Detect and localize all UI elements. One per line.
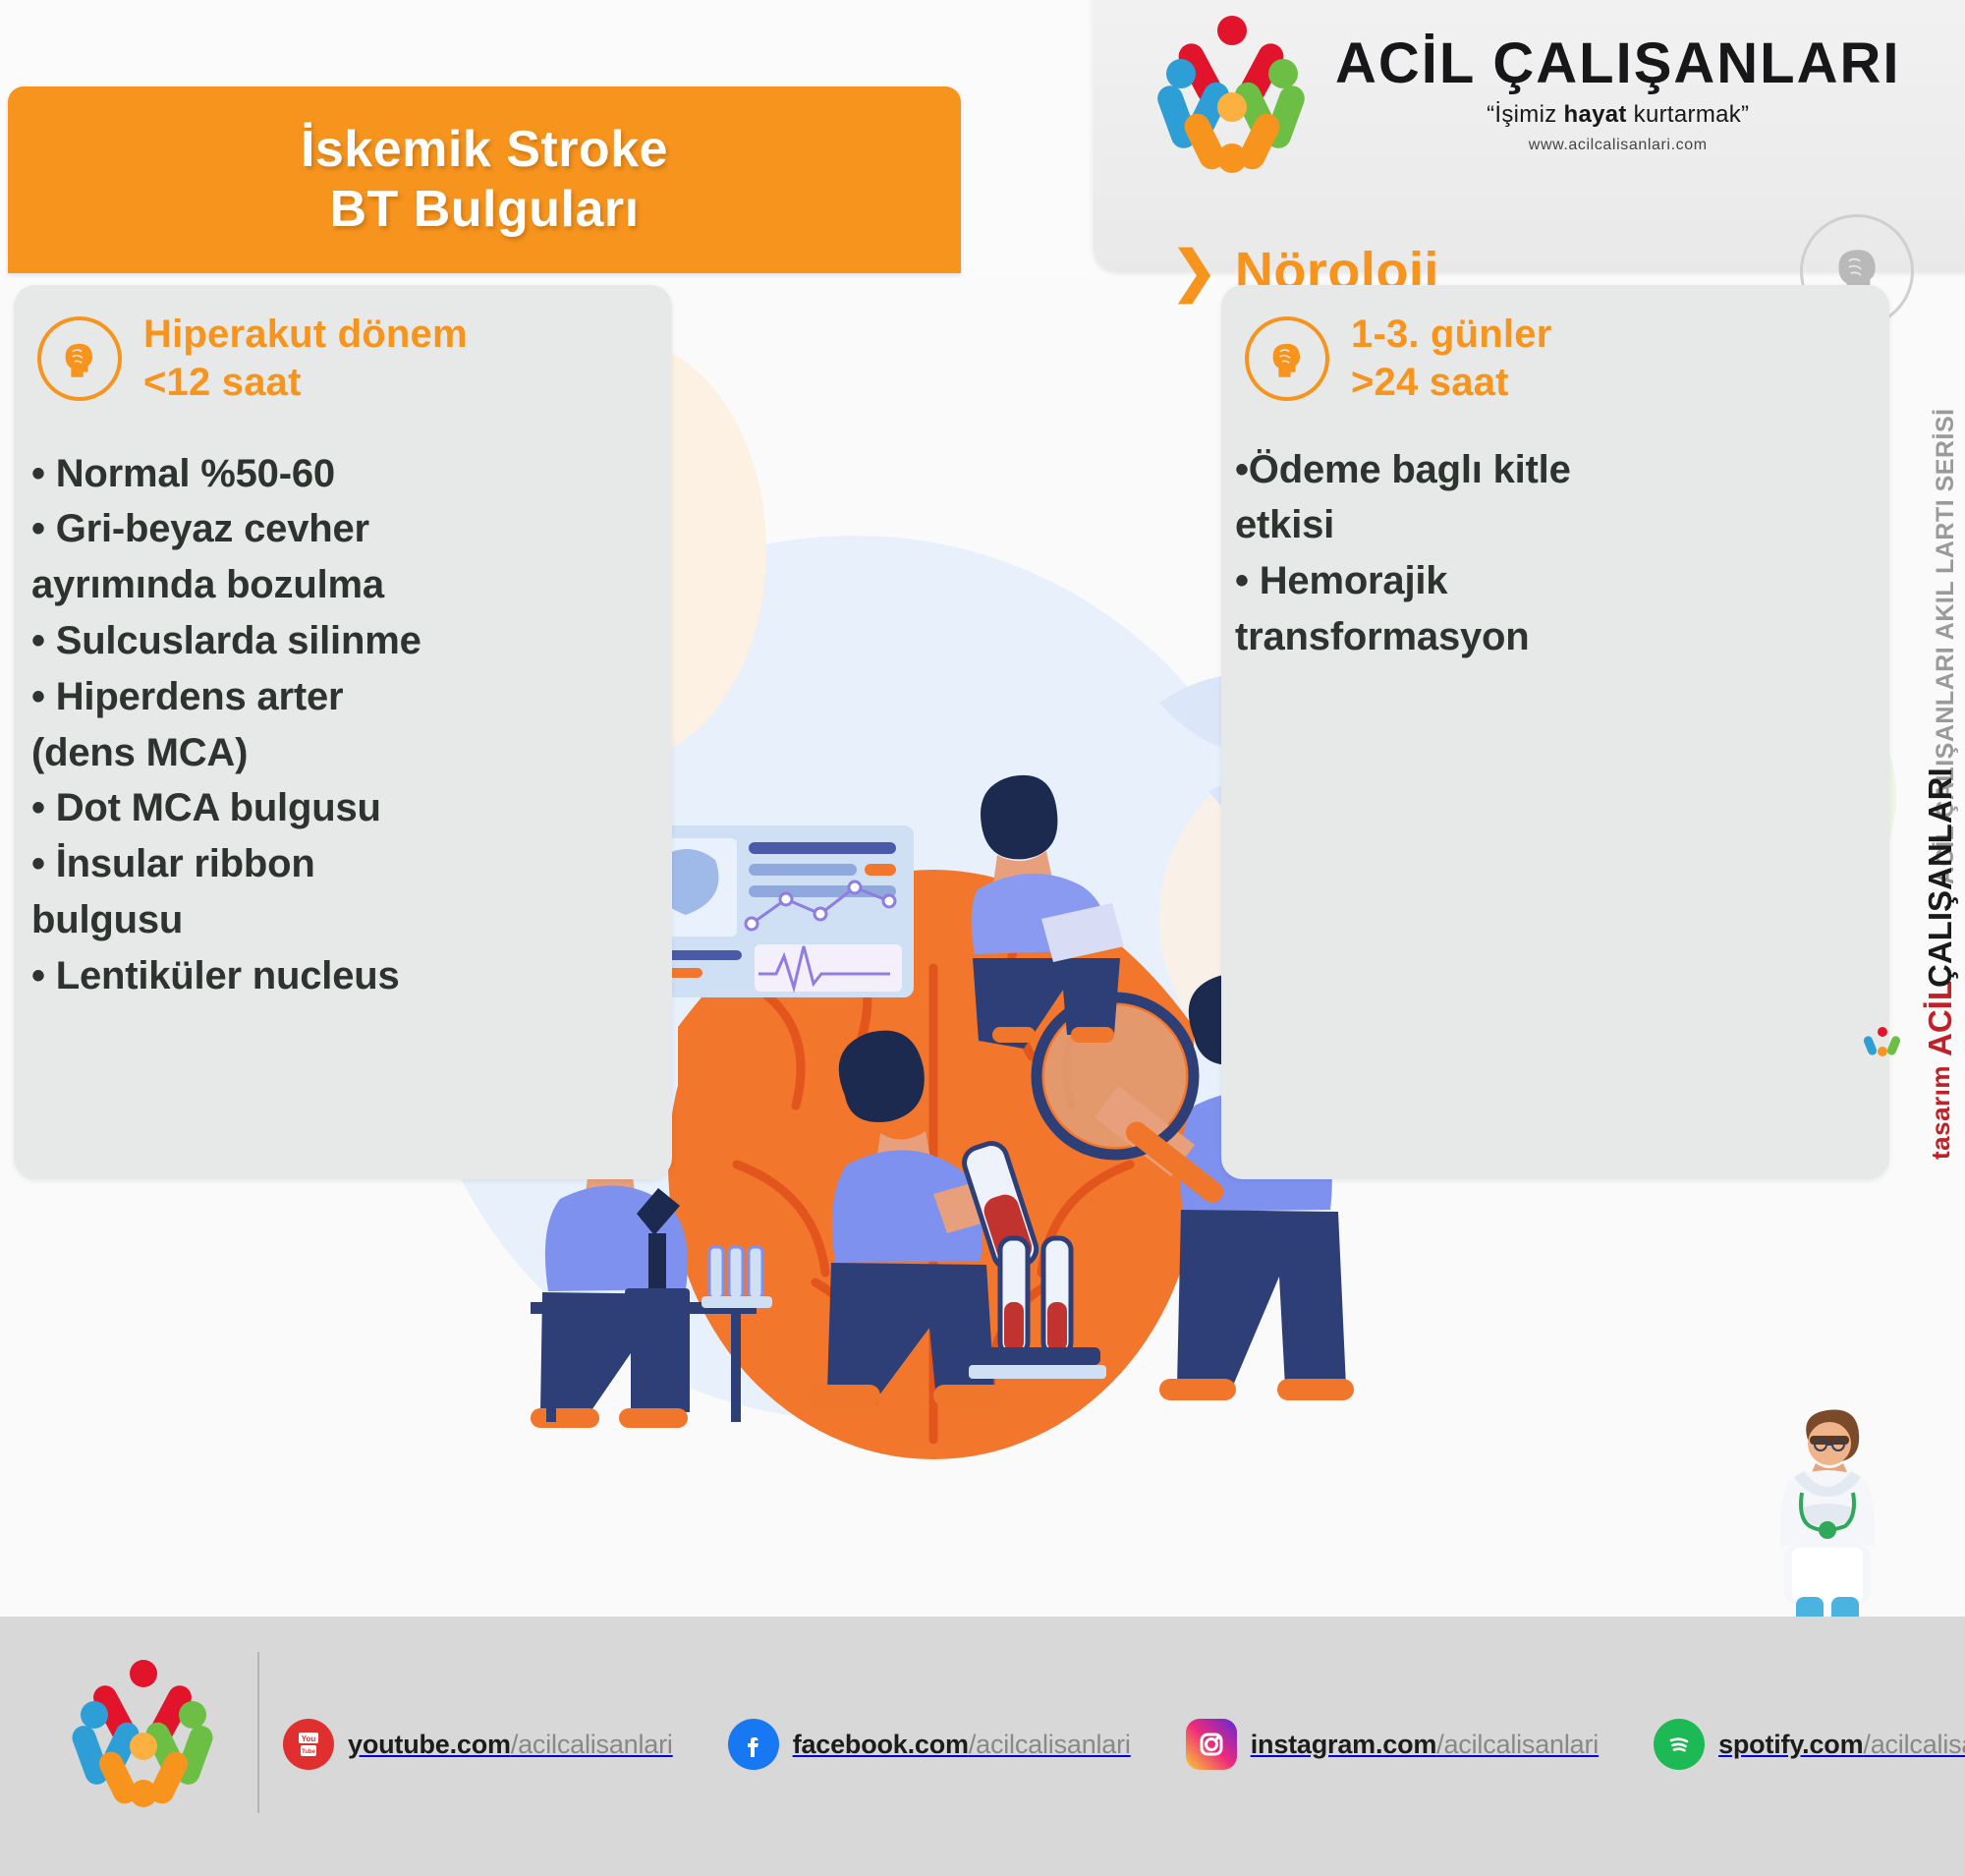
- infographic-root: İskemik Stroke BT Bulguları ACİL ÇA: [0, 0, 1965, 1876]
- footer-bar: YouTube youtube.com/acilcalisanlari face…: [0, 1617, 1965, 1876]
- card-header: 1-3. günler >24 saat: [1221, 285, 1889, 407]
- card-bullet-list: •Ödeme baglı kitle etkisi • Hemorajik tr…: [1221, 407, 1889, 661]
- social-text: youtube.com/acilcalisanlari: [348, 1730, 673, 1760]
- card-header: Hiperakut dönem <12 saat: [14, 285, 672, 407]
- sidebar-brand-part-2: ÇALIŞANLARI: [1922, 767, 1959, 988]
- social-text: instagram.com/acilcalisanlari: [1251, 1730, 1599, 1760]
- social-links-row: YouTube youtube.com/acilcalisanlari face…: [283, 1719, 1965, 1770]
- social-handle: /acilcalisanlari: [1436, 1730, 1599, 1759]
- social-handle: /acilcalisanlari: [969, 1730, 1131, 1759]
- brand-row: ACİL ÇALIŞANLARI “İşimiz hayat kurtarmak…: [1152, 16, 1900, 173]
- list-item: ayrımında bozulma: [31, 561, 654, 609]
- social-link-facebook[interactable]: facebook.com/acilcalisanlari: [728, 1719, 1131, 1770]
- tagline-post: kurtarmak”: [1627, 101, 1750, 128]
- sidebar-brand-part-1: ACİL: [1922, 981, 1959, 1056]
- list-item: etkisi: [1235, 501, 1872, 549]
- list-item: • Dot MCA bulgusu: [31, 784, 654, 832]
- head-brain-icon: [37, 316, 122, 401]
- list-item: • İnsular ribbon: [31, 840, 654, 888]
- chevron-right-icon: ❯: [1171, 244, 1217, 299]
- list-item: • Gri-beyaz cevher: [31, 505, 654, 553]
- list-item: bulgusu: [31, 896, 654, 944]
- brand-tagline: “İşimiz hayat kurtarmak”: [1487, 101, 1749, 129]
- vertical-sidebar: ACİL ÇALIŞANLARI AKIL LARTI SERİSİ ACİL …: [1896, 295, 1965, 1278]
- social-domain: youtube.com: [348, 1730, 511, 1759]
- card-title-line-1: 1-3. günler: [1351, 311, 1551, 359]
- head-brain-glyph: [1264, 336, 1310, 381]
- list-item: •Ödeme baglı kitle: [1235, 446, 1872, 494]
- brand-url: www.acilcalisanlari.com: [1529, 137, 1708, 154]
- sidebar-mini-logo-icon: [1862, 1027, 1903, 1062]
- social-domain: spotify.com: [1718, 1730, 1863, 1759]
- social-handle: /acilcalisanlari: [511, 1730, 673, 1759]
- facebook-icon: [728, 1719, 779, 1770]
- acilcalisanlari-logo-icon: [1152, 16, 1310, 173]
- footer-logo-icon: [69, 1660, 216, 1807]
- social-link-spotify[interactable]: spotify.com/acilcalisanlari: [1654, 1719, 1965, 1770]
- page-title-banner: İskemik Stroke BT Bulguları: [8, 86, 961, 273]
- head-brain-icon: [1245, 316, 1329, 401]
- card-title-line-1: Hiperakut dönem: [143, 311, 468, 359]
- footer-divider: [257, 1652, 259, 1813]
- list-item: • Hiperdens arter: [31, 673, 654, 721]
- card-title-block: Hiperakut dönem <12 saat: [143, 311, 468, 407]
- brand-name: ACİL ÇALIŞANLARI: [1335, 35, 1900, 92]
- page-title-line-1: İskemik Stroke: [301, 120, 668, 180]
- tagline-bold: hayat: [1564, 101, 1627, 128]
- tasarim-label: tasarım: [1926, 1065, 1956, 1160]
- card-hyperacute: Hiperakut dönem <12 saat • Normal %50-60…: [14, 285, 672, 1179]
- list-item: • Lentiküler nucleus: [31, 952, 654, 1000]
- svg-text:Tube: Tube: [302, 1749, 316, 1755]
- youtube-icon: YouTube: [283, 1719, 334, 1770]
- social-link-instagram[interactable]: instagram.com/acilcalisanlari: [1186, 1719, 1599, 1770]
- list-item: transformasyon: [1235, 613, 1872, 661]
- page-title-line-2: BT Bulguları: [329, 180, 639, 240]
- list-item: • Hemorajik: [1235, 557, 1872, 605]
- person-laptop: [972, 775, 1124, 1049]
- card-title-line-2: <12 saat: [143, 359, 468, 407]
- card-days-1-3: 1-3. günler >24 saat •Ödeme baglı kitle …: [1221, 285, 1889, 1179]
- social-text: spotify.com/acilcalisanlari: [1718, 1730, 1965, 1760]
- social-domain: instagram.com: [1251, 1730, 1436, 1759]
- card-title-block: 1-3. günler >24 saat: [1351, 311, 1551, 407]
- spotify-icon: [1654, 1719, 1705, 1770]
- tagline-pre: “İşimiz: [1487, 101, 1563, 128]
- list-item: • Sulcuslarda silinme: [31, 617, 654, 665]
- social-text: facebook.com/acilcalisanlari: [793, 1730, 1131, 1760]
- social-domain: facebook.com: [793, 1730, 969, 1759]
- social-link-youtube[interactable]: YouTube youtube.com/acilcalisanlari: [283, 1719, 673, 1770]
- head-brain-glyph: [57, 336, 102, 381]
- instagram-icon: [1186, 1719, 1237, 1770]
- svg-text:You: You: [302, 1734, 316, 1743]
- card-bullet-list: • Normal %50-60 • Gri-beyaz cevher ayrım…: [14, 407, 672, 1000]
- list-item: • Normal %50-60: [31, 450, 654, 498]
- brand-text-block: ACİL ÇALIŞANLARI “İşimiz hayat kurtarmak…: [1335, 35, 1900, 154]
- card-title-line-2: >24 saat: [1351, 359, 1551, 407]
- list-item: (dens MCA): [31, 729, 654, 777]
- social-handle: /acilcalisanlari: [1863, 1730, 1965, 1759]
